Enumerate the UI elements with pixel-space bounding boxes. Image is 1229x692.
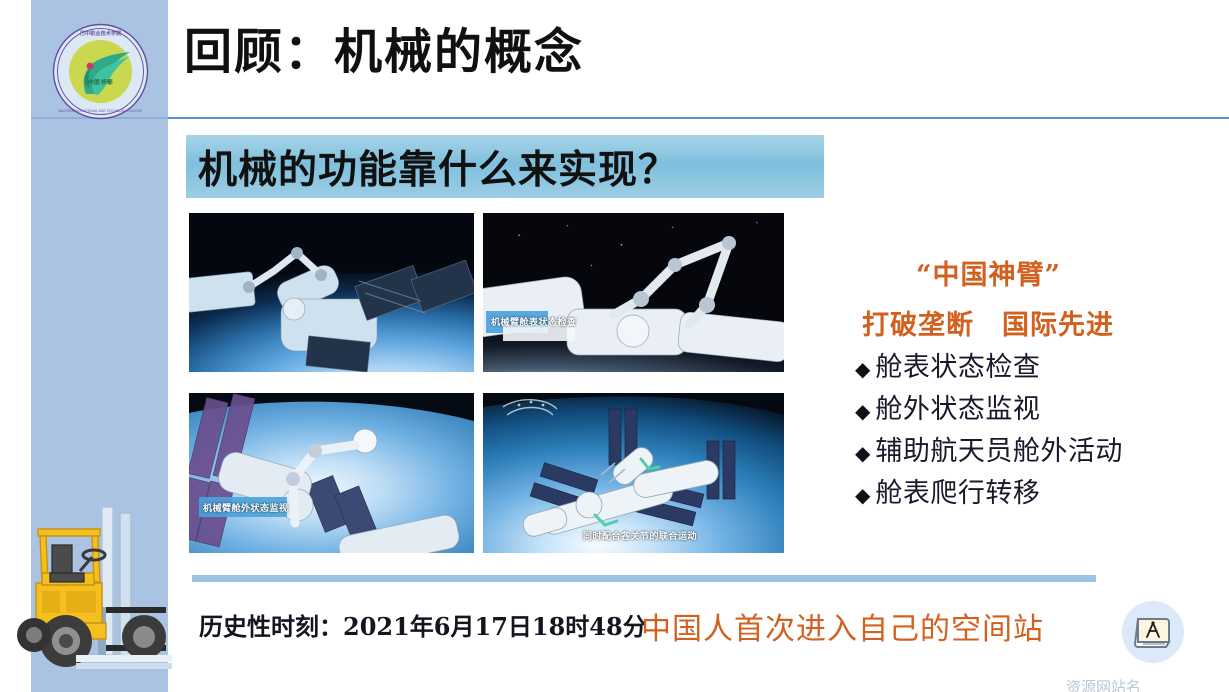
question-banner: 机械的功能靠什么来实现？ [186, 135, 824, 198]
forklift-illustration [16, 495, 184, 680]
list-item: ◆ 辅助航天员舱外活动 [855, 429, 1229, 471]
slide-canvas: 中国·桥都 巴中职业技术学院 BAZHONG VOCATIONAL AND TE… [0, 0, 1229, 692]
footer-timestamp-text: 历史性时刻：2021年6月17日18时48分 [199, 607, 647, 642]
diamond-bullet-icon: ◆ [855, 486, 870, 506]
watermark-text: 资源网站名 [1066, 676, 1141, 692]
diamond-bullet-icon: ◆ [855, 444, 870, 464]
photo-space-station-full-view: 同时配合各关节的联合运动 [483, 393, 784, 553]
headline-sub: 打破垄断 国际先进 [862, 303, 1114, 342]
question-banner-text: 机械的功能靠什么来实现？ [186, 139, 678, 195]
diamond-bullet-icon: ◆ [855, 402, 870, 422]
svg-text:中国·桥都: 中国·桥都 [88, 78, 113, 86]
list-item-label: 辅助航天员舱外活动 [875, 429, 1123, 468]
photo-robotic-arm-outside-monitoring: 机械臂舱外状态监视 [189, 393, 474, 553]
feature-bullet-list: ◆ 舱表状态检查 ◆ 舱外状态监视 ◆ 辅助航天员舱外活动 ◆ 舱表爬行转移 [855, 345, 1229, 513]
list-item-label: 舱表状态检查 [875, 345, 1040, 384]
photo-robotic-arm-dark-space: 机械臂舱表状态检查 [483, 213, 784, 372]
footer-divider-rule [192, 575, 1096, 582]
list-item-label: 舱表爬行转移 [875, 471, 1040, 510]
footer-highlight-text: 中国人首次进入自己的空间站 [641, 604, 1044, 648]
photo-caption: 机械臂舱表状态检查 [491, 315, 577, 328]
book-compass-icon [1122, 601, 1184, 663]
photo-space-station-robotic-arm-earth [189, 213, 474, 372]
photo-caption: 机械臂舱外状态监视 [203, 501, 289, 514]
list-item-label: 舱外状态监视 [875, 387, 1040, 426]
photo-caption: 同时配合各关节的联合运动 [583, 529, 697, 542]
diamond-bullet-icon: ◆ [855, 360, 870, 380]
svg-text:巴中职业技术学院: 巴中职业技术学院 [80, 29, 122, 37]
title-divider-rule [168, 117, 1229, 119]
list-item: ◆ 舱表爬行转移 [855, 471, 1229, 513]
list-item: ◆ 舱表状态检查 [855, 345, 1229, 387]
page-title: 回顾：机械的概念 [184, 26, 584, 79]
college-logo: 中国·桥都 巴中职业技术学院 BAZHONG VOCATIONAL AND TE… [50, 22, 151, 121]
list-item: ◆ 舱外状态监视 [855, 387, 1229, 429]
headline-quoted: “中国神臂” [916, 253, 1061, 292]
svg-text:BAZHONG VOCATIONAL AND TECHNIC: BAZHONG VOCATIONAL AND TECHNICAL COLLEGE [58, 109, 143, 113]
